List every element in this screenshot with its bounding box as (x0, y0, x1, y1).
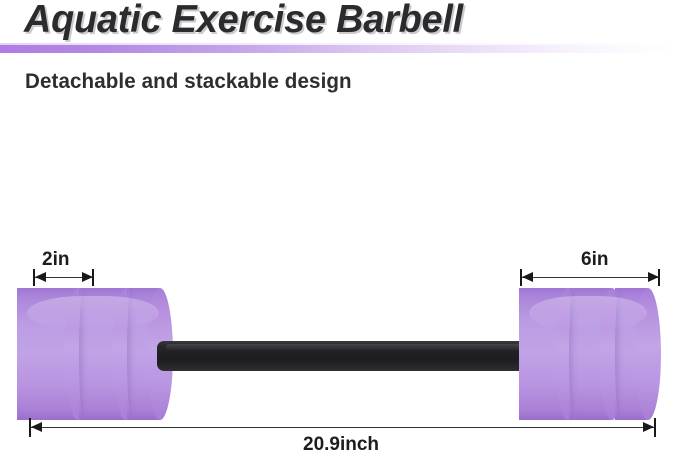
dimension-label-stack-length: 6in (581, 249, 608, 271)
arrow-left-icon (522, 272, 533, 282)
arrow-left-icon (31, 422, 42, 432)
arrow-right-icon (643, 422, 654, 432)
disc-seam (569, 288, 579, 420)
product-illustration: 2in 6in 20.9inch (0, 0, 679, 465)
dimension-tick-right (654, 418, 656, 437)
dimension-label-disc-thickness: 2in (42, 249, 69, 271)
right-weight-stack (519, 288, 661, 420)
product-infographic: Aquatic Exercise Barbell Detachable and … (0, 0, 679, 465)
arrow-right-icon (82, 272, 93, 282)
left-weight-stack (17, 288, 173, 420)
disc-seam (615, 288, 625, 420)
dimension-line-total-length (30, 427, 655, 428)
disc-face (635, 288, 661, 420)
foam-disc-right-3 (615, 288, 661, 420)
arrow-right-icon (648, 272, 659, 282)
handle-highlight (166, 344, 522, 350)
dimension-line-stack-length (521, 277, 659, 278)
disc-seam (79, 288, 89, 420)
arrow-left-icon (35, 272, 46, 282)
dimension-label-total-length: 20.9inch (303, 434, 379, 456)
disc-seam (127, 288, 137, 420)
